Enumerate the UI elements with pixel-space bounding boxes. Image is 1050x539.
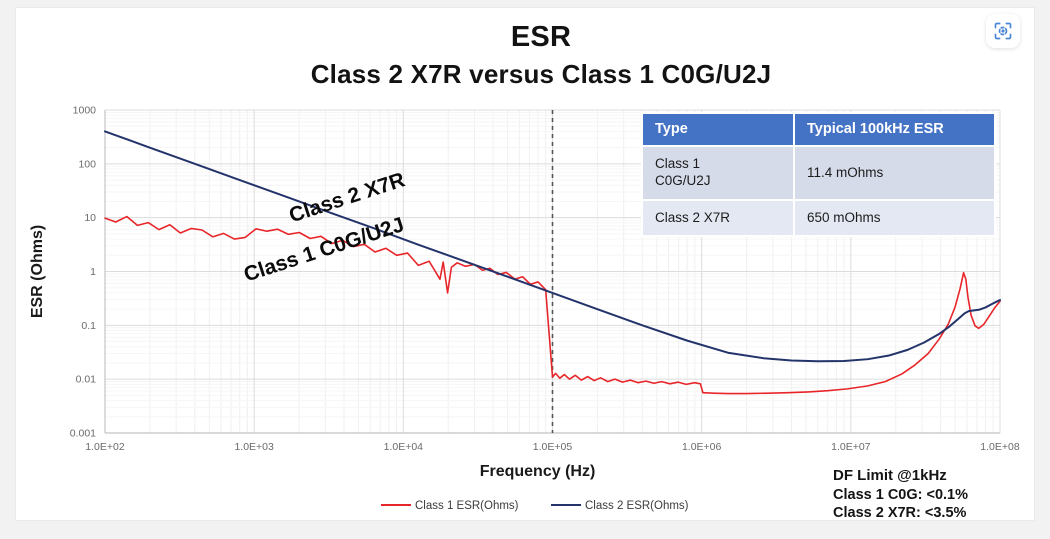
x-tick-label: 1.0E+02 (85, 441, 125, 453)
legend-label-2: Class 2 ESR(Ohms) (585, 500, 689, 512)
table-header-type: Type (642, 113, 794, 146)
y-tick-label: 0.01 (76, 374, 97, 386)
table-row: Class 1C0G/U2J11.4 mOhms (642, 146, 995, 200)
table-body: Class 1C0G/U2J11.4 mOhmsClass 2 X7R650 m… (642, 146, 995, 236)
esr-summary-table: Type Typical 100kHz ESR Class 1C0G/U2J11… (641, 112, 996, 237)
y-tick-label: 1000 (73, 105, 97, 117)
y-tick-label: 1 (90, 266, 96, 278)
x-tick-label: 1.0E+03 (234, 441, 274, 453)
cell-esr: 650 mOhms (794, 200, 995, 236)
y-tick-label: 10 (84, 212, 96, 224)
x-tick-label: 1.0E+04 (384, 441, 424, 453)
df-limit-line-class1: Class 1 C0G: <0.1% (833, 486, 968, 505)
cell-esr: 11.4 mOhms (794, 146, 995, 200)
df-limit-line-class2: Class 2 X7R: <3.5% (833, 504, 968, 523)
y-tick-label: 100 (78, 158, 96, 170)
cell-type: Class 1C0G/U2J (642, 146, 794, 200)
table-header-row: Type Typical 100kHz ESR (642, 113, 995, 146)
x-tick-label: 1.0E+07 (831, 441, 871, 453)
table-row: Class 2 X7R650 mOhms (642, 200, 995, 236)
y-tick-label: 0.001 (70, 428, 96, 440)
slide-card: ESR Class 2 X7R versus Class 1 C0G/U2J 0… (16, 8, 1034, 520)
y-axis-title: ESR (Ohms) (29, 225, 46, 318)
screenshot-root: ESR Class 2 X7R versus Class 1 C0G/U2J 0… (0, 0, 1050, 539)
legend-label-1: Class 1 ESR(Ohms) (415, 500, 519, 512)
x-tick-label: 1.0E+05 (533, 441, 573, 453)
esr-chart: 0.0010.010.111010010001.0E+021.0E+031.0E… (16, 8, 1034, 520)
table-header-esr: Typical 100kHz ESR (794, 113, 995, 146)
df-limit-heading: DF Limit @1kHz (833, 466, 968, 486)
df-limit-note: DF Limit @1kHz Class 1 C0G: <0.1% Class … (833, 466, 968, 523)
cell-type: Class 2 X7R (642, 200, 794, 236)
chart-legend: Class 1 ESR(Ohms)Class 2 ESR(Ohms) (381, 500, 689, 512)
y-tick-label: 0.1 (81, 320, 96, 332)
x-axis-title: Frequency (Hz) (480, 463, 596, 480)
x-tick-label: 1.0E+08 (980, 441, 1020, 453)
x-tick-label: 1.0E+06 (682, 441, 722, 453)
